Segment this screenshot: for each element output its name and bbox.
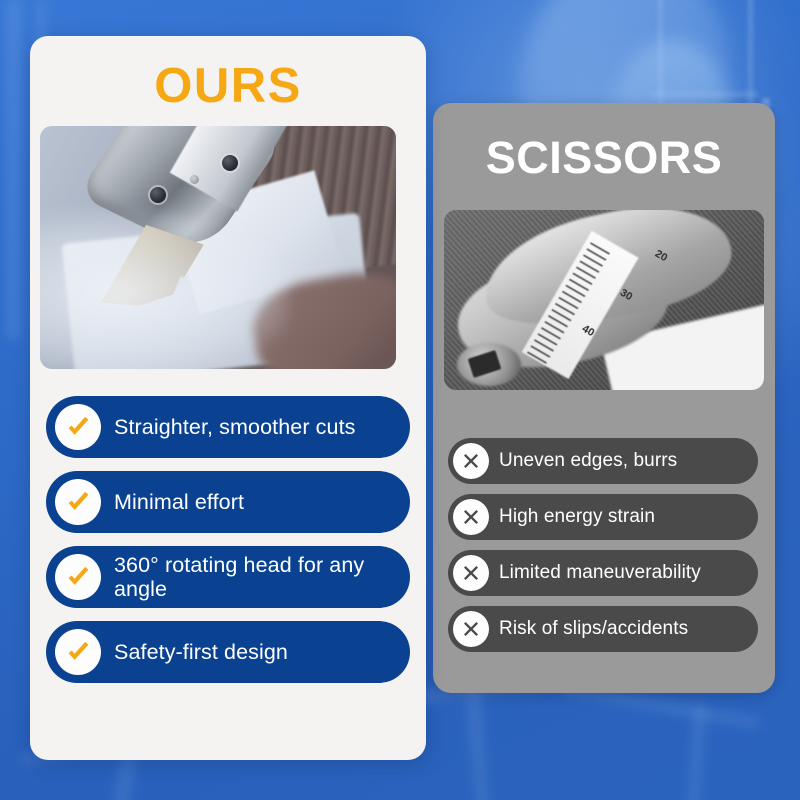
cons-list-item[interactable]: Uneven edges, burrs <box>448 438 758 484</box>
ours-photo-cutter-screw-1 <box>150 187 166 203</box>
cons-list-item-label: Uneven edges, burrs <box>499 451 677 472</box>
x-icon <box>453 555 489 591</box>
ours-photo-soft-haze <box>40 209 289 369</box>
cons-list-item-label: High energy strain <box>499 507 655 528</box>
ours-product-photo <box>40 126 396 369</box>
scissors-product-photo: 20 30 40 <box>444 210 764 390</box>
pros-list-item-label: Safety-first design <box>114 640 288 664</box>
check-icon <box>55 554 101 600</box>
check-icon <box>55 629 101 675</box>
cons-list-item[interactable]: Limited maneuverability <box>448 550 758 596</box>
check-icon <box>55 479 101 525</box>
scissors-card-title: SCISSORS <box>433 135 775 180</box>
cons-list-item[interactable]: High energy strain <box>448 494 758 540</box>
cons-list-item-label: Risk of slips/accidents <box>499 619 688 640</box>
ours-card-title: OURS <box>30 62 426 111</box>
check-icon <box>55 404 101 450</box>
ours-photo-cutter-pin <box>190 175 199 184</box>
pros-list-item[interactable]: 360° rotating head for any angle <box>46 546 410 608</box>
cons-list-item[interactable]: Risk of slips/accidents <box>448 606 758 652</box>
pros-list-item-label: Minimal effort <box>114 490 244 514</box>
ours-photo-cutter-screw-2 <box>222 155 238 171</box>
ours-pros-list: Straighter, smoother cuts Minimal effort… <box>46 396 410 683</box>
pros-list-item[interactable]: Straighter, smoother cuts <box>46 396 410 458</box>
cons-list-item-label: Limited maneuverability <box>499 563 701 584</box>
scissors-cons-list: Uneven edges, burrs High energy strain L… <box>448 438 758 652</box>
x-icon <box>453 611 489 647</box>
comparison-infographic: SCISSORS 20 30 40 Uneven edges, burrs <box>0 0 800 800</box>
x-icon <box>453 499 489 535</box>
pros-list-item[interactable]: Minimal effort <box>46 471 410 533</box>
x-icon <box>453 443 489 479</box>
pros-list-item-label: 360° rotating head for any angle <box>114 553 394 601</box>
pros-list-item[interactable]: Safety-first design <box>46 621 410 683</box>
pros-list-item-label: Straighter, smoother cuts <box>114 415 356 439</box>
